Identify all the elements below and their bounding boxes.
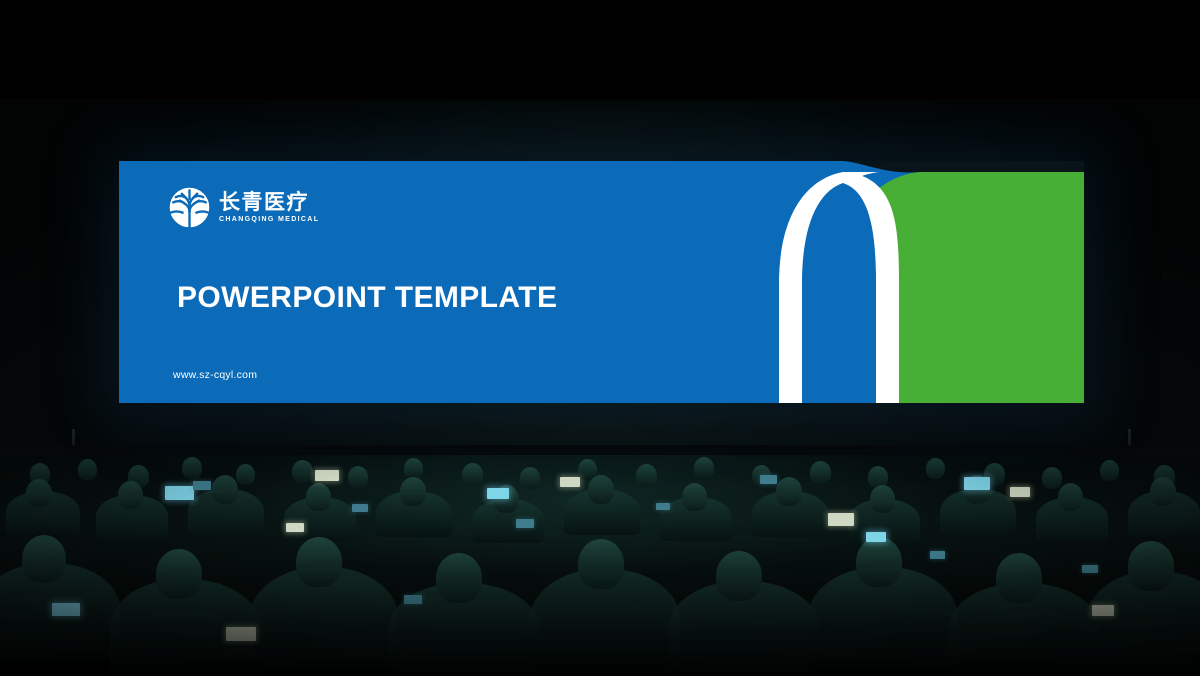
audience-phone-screen	[52, 603, 80, 616]
audience-head	[1150, 477, 1176, 506]
slide-url: www.sz-cqyl.com	[173, 369, 257, 381]
audience-head	[870, 485, 895, 513]
audience-phone-screen	[487, 488, 509, 499]
audience-phone-screen	[656, 503, 670, 510]
audience-head	[636, 464, 657, 487]
audience-head	[78, 459, 97, 480]
audience-head	[348, 466, 368, 488]
audience-phone-screen	[828, 513, 854, 526]
audience-phone-screen	[760, 475, 777, 484]
brand-logo-lockup: 长青医疗 CHANGQING MEDICAL	[168, 186, 319, 229]
audience-head	[926, 458, 945, 479]
audience-phone-screen	[1082, 565, 1098, 573]
audience-phone-screen	[165, 486, 194, 500]
audience-phone-screen	[866, 532, 886, 542]
audience-head	[578, 539, 624, 589]
audience-head	[810, 461, 831, 484]
audience-phone-screen	[930, 551, 945, 559]
slide-title: POWERPOINT TEMPLATE	[177, 281, 557, 315]
audience-phone-screen	[964, 477, 990, 490]
audience-head	[236, 464, 255, 485]
audience-head	[22, 535, 66, 583]
audience-phone-screen	[1010, 487, 1030, 497]
audience-head	[436, 553, 482, 603]
audience-phone-screen	[315, 470, 339, 481]
audience-head	[292, 460, 313, 483]
audience-phone-screen	[516, 519, 534, 528]
audience-head	[26, 479, 52, 507]
audience-head	[1100, 460, 1119, 481]
audience-phone-screen	[560, 477, 580, 487]
audience-head	[1128, 541, 1174, 591]
audience-head	[182, 457, 202, 479]
audience-head	[306, 483, 331, 511]
audience-phone-screen	[193, 481, 211, 490]
audience-head	[776, 477, 802, 506]
arch-inner-column	[802, 183, 876, 403]
audience-phone-screen	[1092, 605, 1114, 616]
audience-head	[1042, 467, 1062, 489]
audience-head	[996, 553, 1042, 603]
led-presentation-screen[interactable]: 长青医疗 CHANGQING MEDICAL POWERPOINT TEMPLA…	[119, 161, 1084, 403]
audience-head	[520, 467, 540, 489]
audience-phone-screen	[352, 504, 368, 512]
audience-head	[400, 477, 426, 506]
audience-head	[716, 551, 762, 601]
audience-head	[156, 549, 202, 599]
brand-wordmark: 长青医疗 CHANGQING MEDICAL	[219, 191, 319, 224]
audience-head	[462, 463, 483, 486]
brand-name-cn: 长青医疗	[219, 191, 319, 213]
brand-name-en: CHANGQING MEDICAL	[219, 215, 319, 224]
tree-emblem-icon	[168, 186, 211, 229]
audience-head	[296, 537, 342, 587]
audience-head	[588, 475, 614, 504]
audience-head	[856, 537, 902, 587]
audience-area	[0, 455, 1200, 676]
audience-phone-screen	[226, 627, 256, 641]
audience-phone-screen	[404, 595, 422, 604]
audience-head	[1058, 483, 1083, 511]
audience-head	[694, 457, 714, 479]
slide-canvas: 长青医疗 CHANGQING MEDICAL POWERPOINT TEMPLA…	[119, 161, 1084, 403]
letterbox-top-bar	[0, 0, 1200, 99]
audience-head	[212, 475, 238, 504]
audience-head	[404, 458, 423, 479]
letterbox-seam	[0, 99, 1200, 101]
conference-hall-scene: 长青医疗 CHANGQING MEDICAL POWERPOINT TEMPLA…	[0, 0, 1200, 676]
audience-head	[682, 483, 707, 511]
audience-head	[118, 481, 143, 509]
audience-phone-screen	[286, 523, 304, 532]
